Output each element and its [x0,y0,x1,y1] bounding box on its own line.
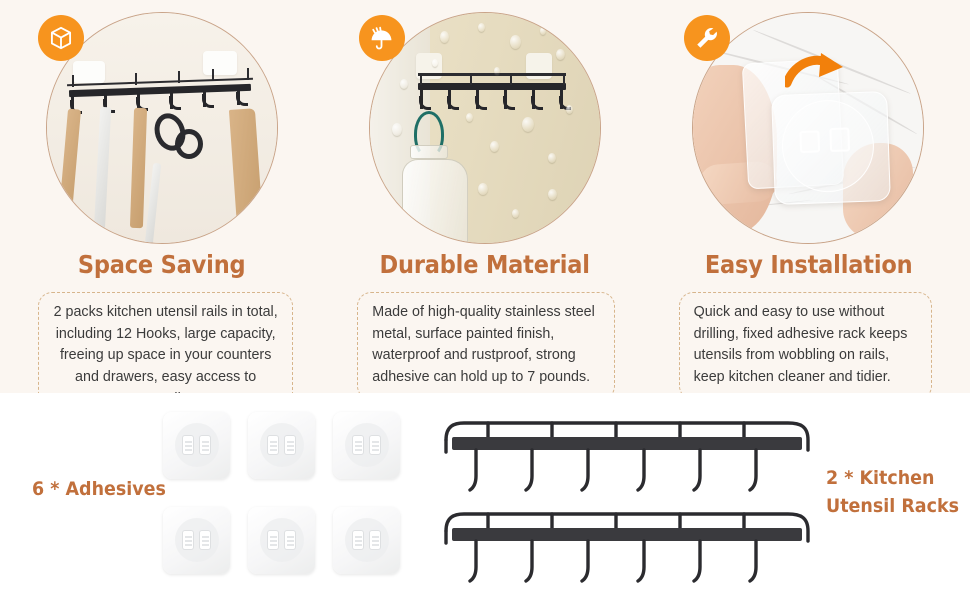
feature-title: Durable Material [339,250,630,279]
rail-post [72,75,74,87]
rail-post [212,69,214,81]
adhesive-pad [73,61,105,83]
rail-hook [504,89,507,109]
rail-post [470,73,472,85]
adhesives-count-label: 6 * Adhesives [30,476,168,504]
feature-description: Quick and easy to use without drilling, … [679,292,932,400]
adhesive-pad [203,51,237,75]
bottle-cap [410,145,448,159]
adhesive-pad-item [333,412,400,479]
rail-hook [532,89,535,109]
rail-hook [203,87,206,107]
peel-arrow-icon [785,53,845,95]
rail-post [563,73,565,85]
racks-count-label-line1: 2 * Kitchen [826,465,960,493]
photo-circle-waterproof [369,12,601,244]
rail-main-bar [418,83,566,90]
rail-post [510,73,512,85]
utensil-rack-item [436,410,826,496]
rail-post [247,68,249,80]
racks-count-label: 2 * Kitchen Utensil Racks [826,465,960,520]
product-infographic: Space Saving 2 packs kitchen utensil rai… [0,0,970,600]
feature-photo-2 [369,12,601,244]
utensil-rack-item [436,501,826,587]
rail-post [178,71,180,83]
racks-group [436,410,826,590]
adhesive-sticker [771,91,891,205]
adhesive-pad-item [248,507,315,574]
racks-count-label-line2: Utensil Racks [826,493,960,521]
rail-hook [170,89,173,109]
rail-hook [420,89,423,109]
rail-post [420,73,422,85]
scissor-ring [175,129,203,159]
plastic-bottle [402,159,468,244]
adhesive-pad-item [333,507,400,574]
adhesives-grid [163,412,413,582]
adhesive-pad-item [163,412,230,479]
rail-hook [476,89,479,109]
rail-hook [448,89,451,109]
umbrella-rain-icon [359,15,405,61]
rail-hook [237,85,240,105]
wrench-icon [684,15,730,61]
feature-title: Easy Installation [663,250,954,279]
rail-hook [560,89,563,109]
feature-panel-space-saving: Space Saving 2 packs kitchen utensil rai… [0,0,323,393]
adhesive-pad-item [163,507,230,574]
feature-panel-durable-material: Durable Material Made of high-quality st… [323,0,646,393]
feature-title: Space Saving [16,250,307,279]
feature-description: Made of high-quality stainless steel met… [357,292,614,400]
box-icon [38,15,84,61]
adhesive-pad-item [248,412,315,479]
feature-photo-1 [46,12,278,244]
rail-post [135,73,137,85]
rail-top-wire [418,73,566,76]
features-section: Space Saving 2 packs kitchen utensil rai… [0,0,970,393]
feature-photo-3 [692,12,924,244]
feature-panel-easy-installation: Easy Installation Quick and easy to use … [647,0,970,393]
